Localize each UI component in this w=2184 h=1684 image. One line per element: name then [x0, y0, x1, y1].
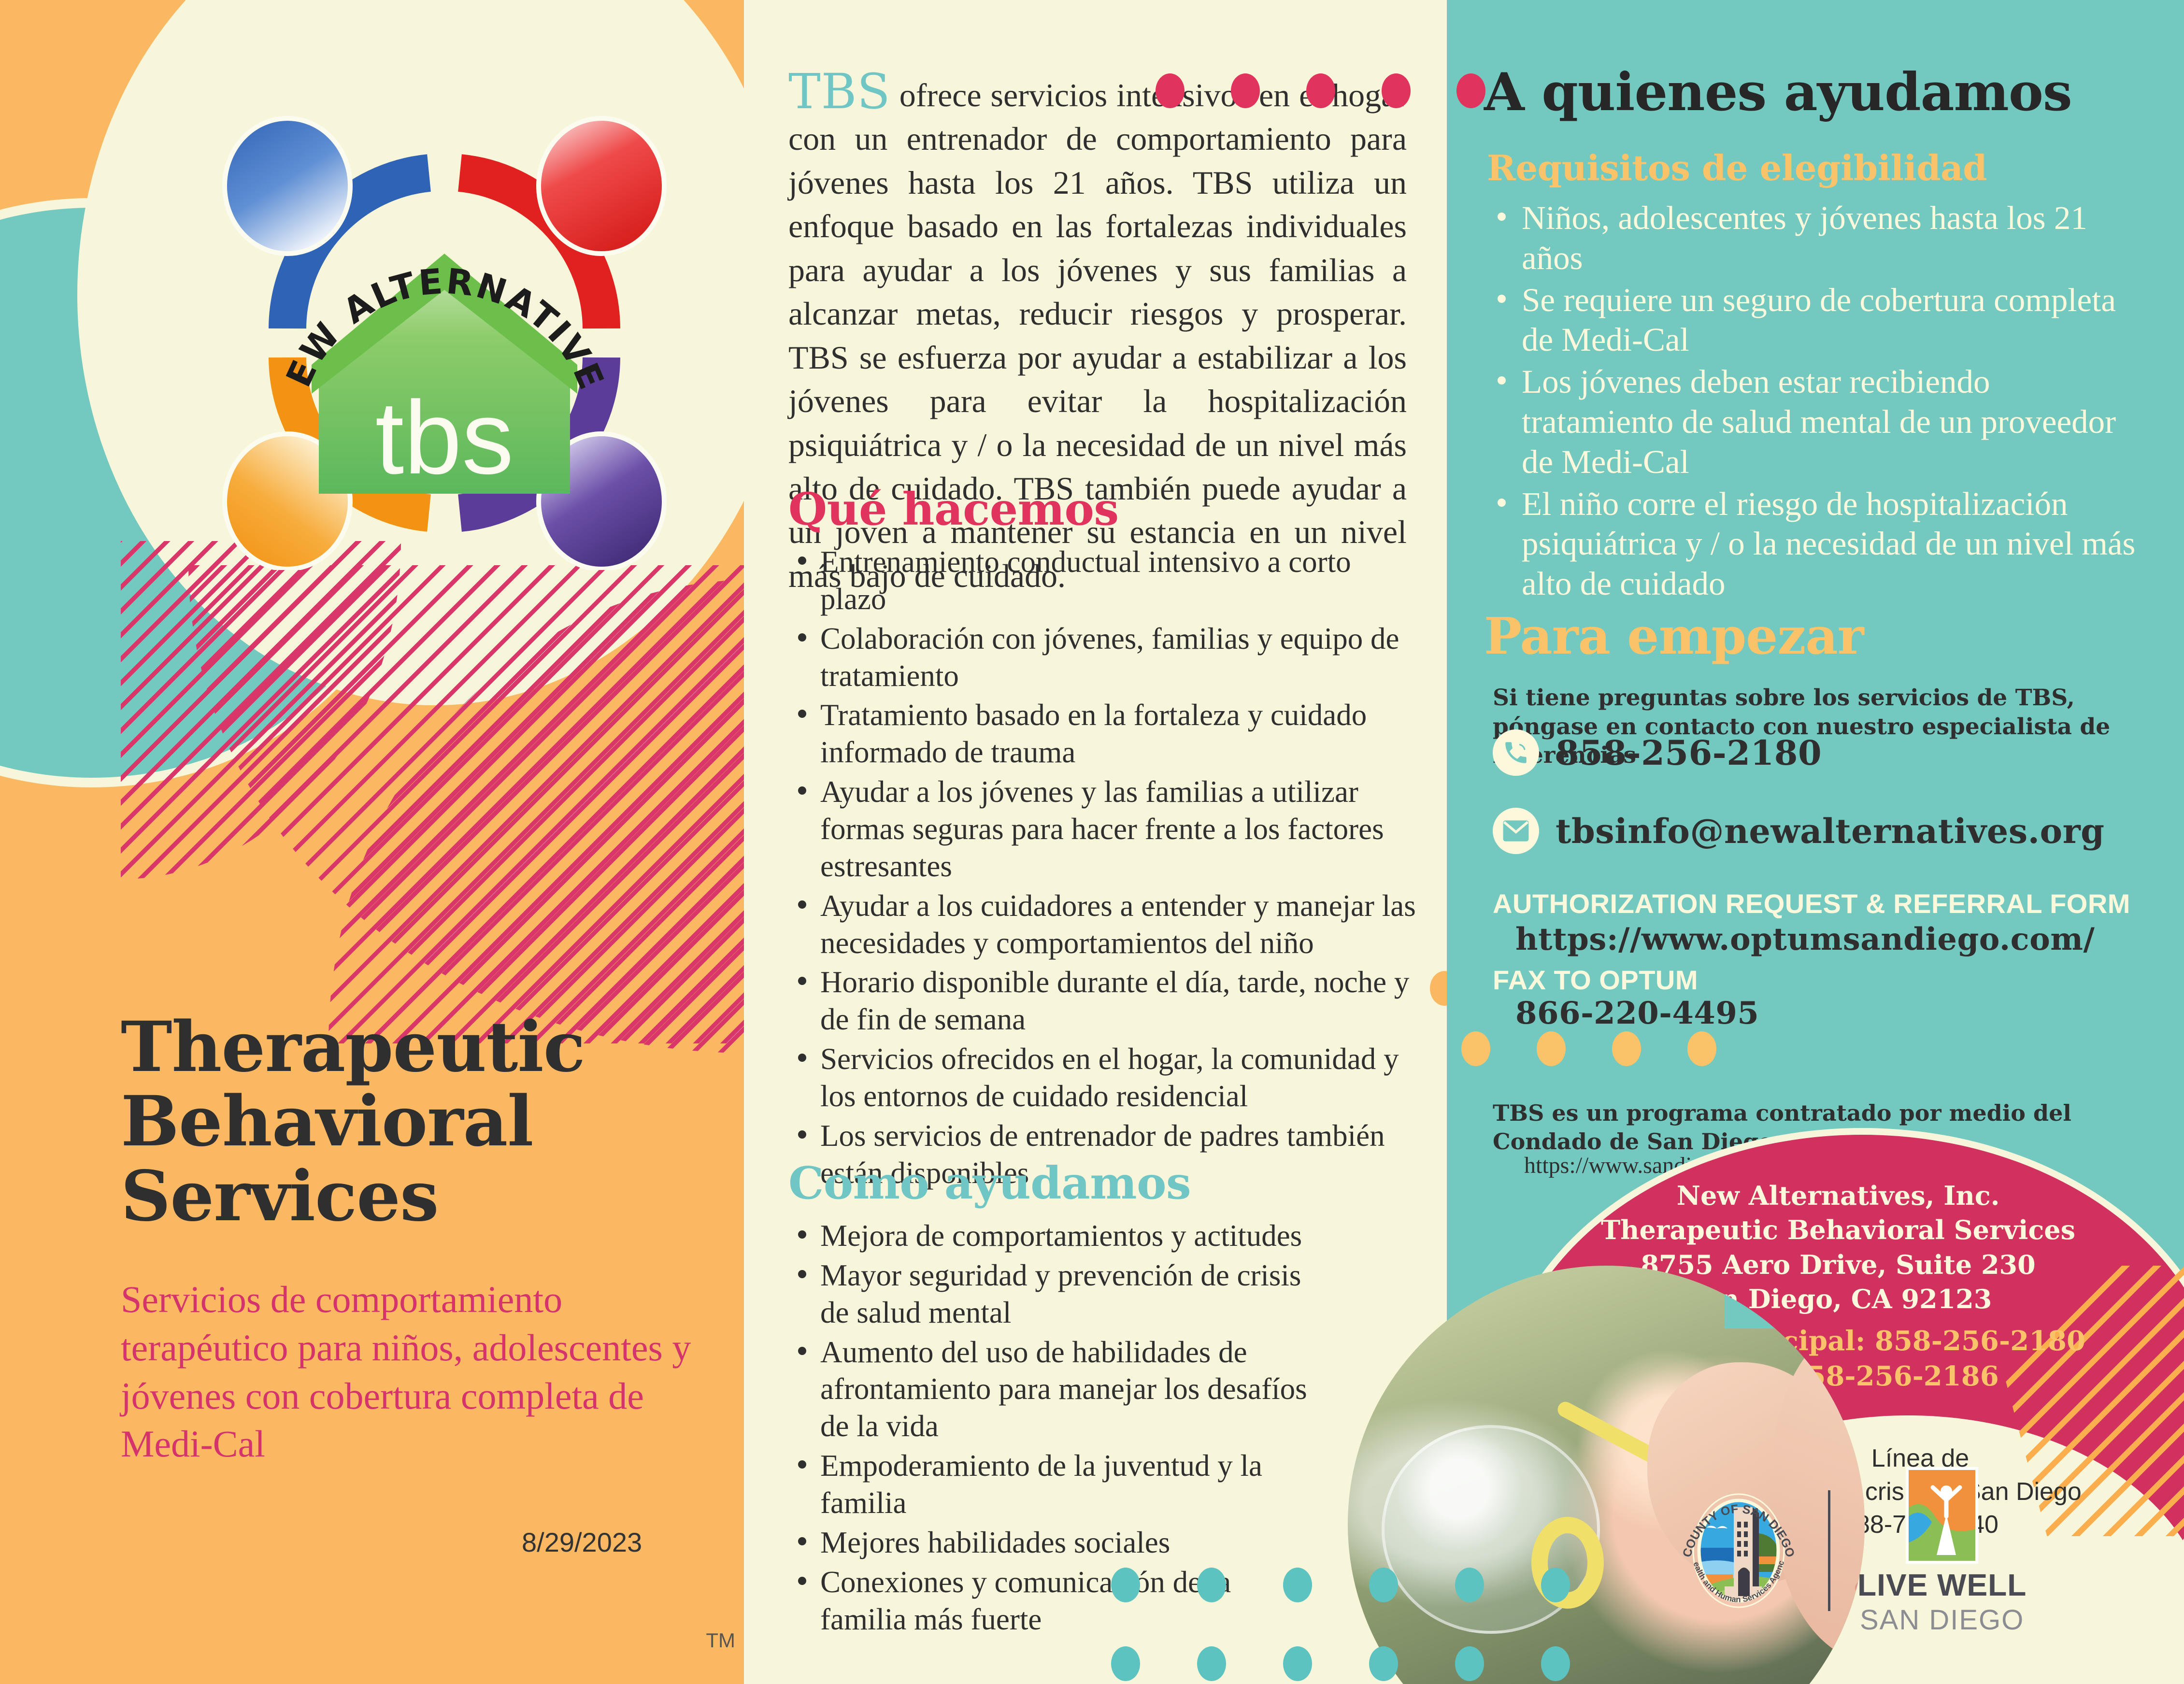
partner-logos: COUNTY OF SAN DIEGO Health and Human Ser…: [1676, 1471, 2121, 1630]
list-item: Se requiere un seguro de cobertura compl…: [1487, 280, 2144, 360]
list-item: Mejora de comportamientos y actitudes: [788, 1217, 1310, 1255]
heading-para-empezar: Para empezar: [1484, 606, 1864, 666]
revision-date: 8/29/2023: [522, 1527, 642, 1558]
authorization-form-url[interactable]: https://www.optumsandiego.com/: [1515, 921, 2095, 957]
email-address: tbsinfo@newalternatives.org: [1556, 811, 2105, 851]
email-contact-row[interactable]: tbsinfo@newalternatives.org: [1493, 808, 2105, 854]
heading-a-quienes-ayudamos: A quienes ayudamos: [1484, 62, 2072, 123]
list-item: Empoderamiento de la juventud y la famil…: [788, 1447, 1310, 1522]
heading-que-hacemos: Qué hacemos: [788, 483, 1119, 535]
list-item: Los jóvenes deben estar recibiendo trata…: [1487, 362, 2144, 482]
gold-dots-row: [1461, 1031, 1716, 1066]
page-subtitle: Servicios de comportamiento terapéutico …: [121, 1275, 705, 1468]
live-well-mark-icon: [1906, 1467, 1978, 1564]
list-item: Aumento del uso de habilidades de afront…: [788, 1334, 1310, 1445]
photo-corner-teal: [1725, 1266, 1865, 1328]
phone-icon: [1493, 729, 1539, 776]
list-item: Mayor seguridad y prevención de crisis d…: [788, 1257, 1310, 1331]
live-well-text-1: LIVE WELL: [1857, 1570, 2027, 1600]
teal-dots-row-2: [1111, 1646, 1570, 1681]
phone-contact-row[interactable]: 858-256-2180: [1493, 729, 1822, 776]
list-item: El niño corre el riesgo de hospitalizaci…: [1487, 484, 2144, 604]
program-name: Therapeutic Behavioral Services: [1568, 1213, 2109, 1247]
list-item: Tratamiento basado en la fortaleza y cui…: [788, 697, 1416, 771]
fax-to-optum-number: 866-220-4495: [1515, 995, 1759, 1031]
list-item: Servicios ofrecidos en el hogar, la comu…: [788, 1041, 1416, 1115]
list-item: Niños, adolescentes y jóvenes hasta los …: [1487, 198, 2144, 278]
trademark-symbol: TM: [706, 1629, 735, 1652]
pink-dots-row-top: [1156, 73, 1411, 108]
logo-wordmark: tbs: [375, 379, 514, 496]
heading-como-ayudamos: Como ayudamos: [788, 1157, 1191, 1209]
list-item: Entrenamiento conductual intensivo a cor…: [788, 543, 1416, 618]
org-name: New Alternatives, Inc.: [1568, 1179, 2109, 1213]
live-well-text-2: SAN DIEGO: [1860, 1606, 2024, 1634]
list-item: Mejores habilidades sociales: [788, 1524, 1310, 1561]
county-of-san-diego-logo: COUNTY OF SAN DIEGO Health and Human Ser…: [1676, 1475, 1801, 1626]
subheading-requisitos: Requisitos de elegibilidad: [1487, 147, 1987, 188]
what-we-do-list: Entrenamiento conductual intensivo a cor…: [788, 543, 1416, 1194]
authorization-form-label: AUTHORIZATION REQUEST & REFERRAL FORM: [1493, 888, 2130, 919]
list-item: Horario disponible durante el día, tarde…: [788, 964, 1416, 1038]
middle-panel: TBSofrece servicios intensivos en el hog…: [744, 0, 1447, 1684]
intro-lead-tbs: TBS: [788, 63, 899, 120]
new-alternatives-tbs-logo: tbs NEW ALTERNATIVES: [188, 87, 700, 570]
page-title: Therapeutic Behavioral Services: [121, 1010, 715, 1233]
brochure-page: tbs NEW ALTERNATIVES TM Therapeutic Beha…: [0, 0, 2184, 1684]
orange-dot-accent: [1430, 971, 1447, 1006]
eligibility-list: Niños, adolescentes y jóvenes hasta los …: [1487, 198, 2144, 606]
list-item: Ayudar a los jóvenes y las familias a ut…: [788, 773, 1416, 885]
left-panel: tbs NEW ALTERNATIVES TM Therapeutic Beha…: [0, 0, 744, 1684]
logo-divider: [1828, 1490, 1830, 1611]
list-item: Ayudar a los cuidadores a entender y man…: [788, 887, 1416, 962]
live-well-san-diego-logo: LIVE WELL SAN DIEGO: [1857, 1467, 2027, 1634]
envelope-icon: [1493, 808, 1539, 854]
list-item: Colaboración con jóvenes, familias y equ…: [788, 620, 1416, 695]
teal-dots-row-1: [1111, 1568, 1570, 1602]
phone-number: 858-256-2180: [1556, 733, 1822, 773]
pink-dot-accent: [1456, 73, 1485, 108]
fax-to-optum-label: FAX TO OPTUM: [1493, 964, 1698, 996]
